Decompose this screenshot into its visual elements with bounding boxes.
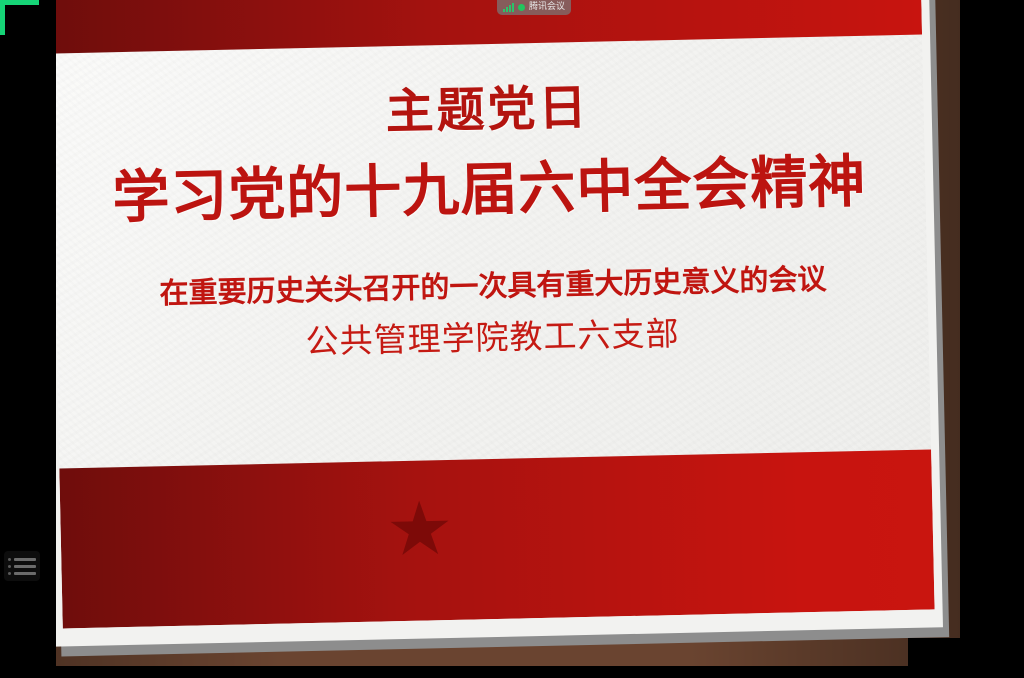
screen-share-view: 主题党日 学习党的十九届六中全会精神 在重要历史关头召开的一次具有重大历史意义的… xyxy=(0,0,1024,678)
tencent-meeting-label: 腾讯会议 xyxy=(529,0,565,15)
list-line-icon xyxy=(14,572,36,575)
signal-bars-icon xyxy=(503,3,514,12)
list-line-icon xyxy=(14,565,36,568)
slide-content: 主题党日 学习党的十九届六中全会精神 在重要历史关头召开的一次具有重大历史意义的… xyxy=(50,35,929,367)
slide-kicker: 主题党日 xyxy=(385,82,590,139)
list-handle-row xyxy=(8,558,40,561)
slide-frame: 主题党日 学习党的十九届六中全会精神 在重要历史关头召开的一次具有重大历史意义的… xyxy=(41,0,943,647)
slide-title: 学习党的十九届六中全会精神 xyxy=(112,151,867,230)
slide-canvas: 主题党日 学习党的十九届六中全会精神 在重要历史关头召开的一次具有重大历史意义的… xyxy=(49,0,935,628)
recording-dot-icon xyxy=(518,4,525,11)
screen-share-corner-indicator xyxy=(0,0,39,35)
list-bullet-icon xyxy=(8,572,11,575)
slide-subtitle: 在重要历史关头召开的一次具有重大历史意义的会议 xyxy=(121,259,862,313)
list-line-icon xyxy=(14,558,36,561)
right-edge-black-patch xyxy=(962,600,1024,678)
slide-organization: 公共管理学院教工六支部 xyxy=(305,314,680,362)
participants-list-handle[interactable] xyxy=(4,551,40,581)
tencent-meeting-badge[interactable]: 腾讯会议 xyxy=(497,0,571,15)
list-bullet-icon xyxy=(8,565,11,568)
list-handle-row xyxy=(8,572,40,575)
bottom-black-strip xyxy=(0,666,1024,678)
slide-bottom-red-band xyxy=(59,449,934,628)
list-handle-row xyxy=(8,565,40,568)
list-bullet-icon xyxy=(8,558,11,561)
presentation-slide[interactable]: 主题党日 学习党的十九届六中全会精神 在重要历史关头召开的一次具有重大历史意义的… xyxy=(41,0,943,652)
right-black-bar xyxy=(960,0,1024,678)
